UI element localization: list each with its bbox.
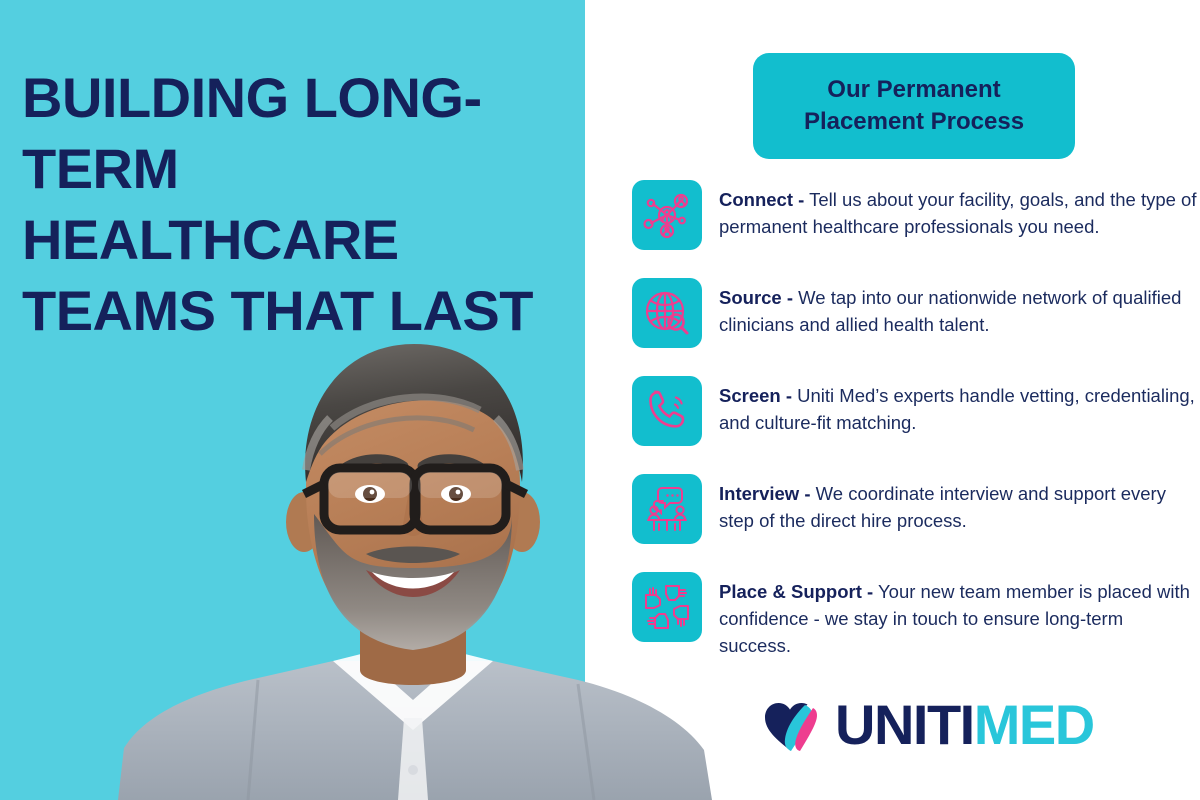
list-item: Interview - We coordinate interview and …	[632, 474, 1200, 558]
process-step-list: Connect - Tell us about your facility, g…	[632, 180, 1200, 686]
logo-wordmark: UNITIMED	[835, 697, 1094, 753]
step-text: Source - We tap into our nationwide netw…	[702, 278, 1200, 339]
network-people-icon	[632, 180, 702, 250]
step-label: Place & Support -	[719, 581, 873, 602]
step-label: Connect -	[719, 189, 804, 210]
badge-line-1: Our Permanent	[827, 76, 1000, 103]
list-item: Connect - Tell us about your facility, g…	[632, 180, 1200, 264]
logo-word-med: MED	[974, 693, 1094, 756]
infographic-canvas: Building long-term healthcare teams that…	[0, 0, 1200, 800]
step-text: Screen - Uniti Med’s experts handle vett…	[702, 376, 1200, 437]
badge-line-2: Placement Process	[804, 108, 1024, 135]
logo-word-uniti: UNITI	[835, 693, 974, 756]
uniti-heart-mark-icon	[761, 694, 823, 756]
list-item: Source - We tap into our nationwide netw…	[632, 278, 1200, 362]
page-title: Building long-term healthcare teams that…	[22, 62, 567, 346]
list-item: Screen - Uniti Med’s experts handle vett…	[632, 376, 1200, 460]
right-content-panel: Our Permanent Placement Process	[585, 0, 1200, 800]
teamwork-hands-icon	[632, 572, 702, 642]
interview-table-icon	[632, 474, 702, 544]
step-label: Interview -	[719, 483, 811, 504]
globe-search-icon	[632, 278, 702, 348]
lens-glare-right	[418, 472, 502, 498]
step-text: Place & Support - Your new team member i…	[702, 572, 1200, 659]
shirt-button	[408, 765, 418, 775]
lens-glare-left	[328, 472, 412, 498]
step-label: Screen -	[719, 385, 792, 406]
phone-ringing-icon	[632, 376, 702, 446]
badge-text-block: Our Permanent Placement Process	[786, 74, 1042, 137]
brand-logo: UNITIMED	[761, 694, 1094, 756]
process-title-badge: Our Permanent Placement Process	[753, 53, 1075, 159]
step-text: Connect - Tell us about your facility, g…	[702, 180, 1200, 241]
step-label: Source -	[719, 287, 793, 308]
step-text: Interview - We coordinate interview and …	[702, 474, 1200, 535]
list-item: Place & Support - Your new team member i…	[632, 572, 1200, 672]
